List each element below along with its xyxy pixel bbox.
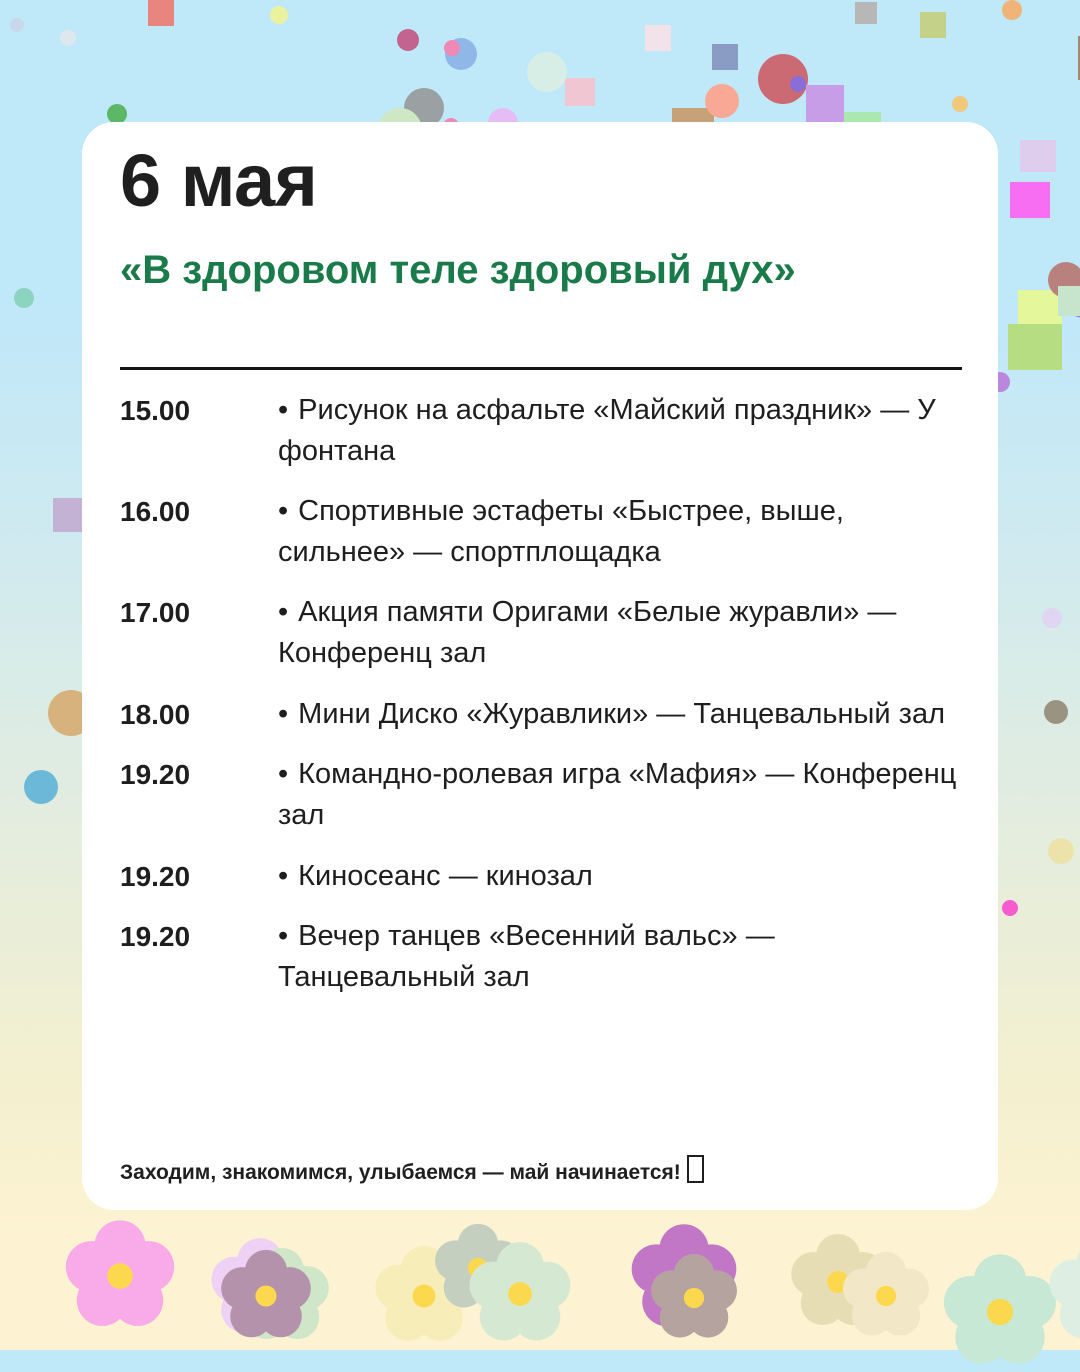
poster-subtitle: «В здоровом теле здоровый дух» (120, 248, 964, 293)
flower-icon (218, 1248, 314, 1344)
confetti-circle (10, 18, 24, 32)
confetti-square (920, 12, 946, 38)
confetti-square (1010, 182, 1050, 218)
missing-glyph-tofu-icon (687, 1155, 704, 1183)
confetti-square (645, 25, 671, 51)
schedule-description-text: Спортивные эстафеты «Быстрее, выше, силь… (278, 495, 844, 568)
schedule-row: 16.00•Спортивные эстафеты «Быстрее, выше… (120, 491, 968, 572)
confetti-circle (444, 40, 460, 56)
schedule-time: 16.00 (120, 491, 278, 532)
schedule-row: 19.20•Вечер танцев «Весенний вальс» — Та… (120, 916, 968, 997)
schedule-time: 17.00 (120, 592, 278, 633)
bullet-icon: • (278, 596, 288, 628)
bullet-icon: • (278, 394, 288, 426)
flower-icon (940, 1252, 1060, 1372)
confetti-square (806, 85, 844, 123)
confetti-circle (1044, 700, 1068, 724)
schedule-row: 19.20•Киносеанс — кинозал (120, 856, 968, 897)
schedule-time: 19.20 (120, 754, 278, 795)
schedule-description: •Вечер танцев «Весенний вальс» — Танцева… (278, 916, 968, 997)
schedule-description: •Командно-ролевая игра «Мафия» — Конфере… (278, 754, 968, 835)
confetti-square (1058, 286, 1080, 316)
flower-icon (840, 1250, 932, 1342)
schedule-description-text: Киносеанс — кинозал (298, 860, 593, 892)
schedule-description-text: Акция памяти Оригами «Белые журавли» — К… (278, 596, 896, 669)
confetti-circle (445, 38, 477, 70)
schedule-time: 15.00 (120, 390, 278, 431)
confetti-square (565, 78, 595, 106)
confetti-circle (1002, 900, 1018, 916)
schedule-description-text: Рисунок на асфальте «Майский праздник» —… (278, 394, 936, 467)
confetti-circle (107, 104, 127, 124)
confetti-circle (758, 54, 808, 104)
confetti-square (712, 44, 738, 70)
schedule-row: 15.00•Рисунок на асфальте «Майский празд… (120, 390, 968, 471)
confetti-square (1020, 140, 1056, 172)
confetti-circle (270, 6, 288, 24)
confetti-circle (60, 30, 76, 46)
flower-icon (372, 1244, 476, 1348)
confetti-circle (705, 84, 739, 118)
event-card: 6 мая «В здоровом теле здоровый дух» 15.… (82, 122, 998, 1210)
schedule-description: •Спортивные эстафеты «Быстрее, выше, сил… (278, 491, 968, 572)
confetti-circle (14, 288, 34, 308)
flower-icon (466, 1240, 574, 1348)
flower-icon (1046, 1238, 1080, 1346)
confetti-square (148, 0, 174, 26)
schedule-row: 19.20•Командно-ролевая игра «Мафия» — Ко… (120, 754, 968, 835)
page-title: 6 мая (120, 144, 317, 218)
schedule-description-text: Мини Диско «Журавлики» — Танцевальный за… (298, 698, 945, 730)
confetti-circle (1048, 838, 1074, 864)
confetti-circle (1042, 608, 1062, 628)
flower-icon (648, 1252, 740, 1344)
schedule-description: •Киносеанс — кинозал (278, 856, 968, 897)
title-divider (120, 367, 962, 370)
confetti-circle (952, 96, 968, 112)
confetti-circle (397, 29, 419, 51)
confetti-square (1008, 324, 1062, 370)
schedule-description: •Рисунок на асфальте «Майский праздник» … (278, 390, 968, 471)
footer-text: Заходим, знакомимся, улыбаемся — май нач… (120, 1161, 681, 1184)
confetti-square (855, 2, 877, 24)
schedule-row: 18.00•Мини Диско «Журавлики» — Танцеваль… (120, 694, 968, 735)
confetti-square (1018, 290, 1062, 334)
confetti-circle (1002, 0, 1022, 20)
schedule-time: 19.20 (120, 856, 278, 897)
flower-icon (628, 1222, 740, 1334)
confetti-circle (24, 770, 58, 804)
flower-icon (62, 1218, 178, 1334)
flower-icon (208, 1236, 312, 1340)
schedule-list: 15.00•Рисунок на асфальте «Майский празд… (120, 390, 968, 1017)
bullet-icon: • (278, 860, 288, 892)
schedule-time: 18.00 (120, 694, 278, 735)
confetti-circle (790, 76, 806, 92)
flower-icon (232, 1246, 332, 1346)
footer-note: Заходим, знакомимся, улыбаемся — май нач… (120, 1155, 970, 1186)
flower-icon (432, 1222, 524, 1314)
bullet-icon: • (278, 920, 288, 952)
confetti-circle (527, 52, 567, 92)
confetti-circle (1060, 268, 1080, 318)
bullet-icon: • (278, 758, 288, 790)
bullet-icon: • (278, 495, 288, 527)
schedule-description-text: Командно-ролевая игра «Мафия» — Конферен… (278, 758, 956, 831)
schedule-time: 19.20 (120, 916, 278, 957)
schedule-row: 17.00•Акция памяти Оригами «Белые журавл… (120, 592, 968, 673)
schedule-description: •Акция памяти Оригами «Белые журавли» — … (278, 592, 968, 673)
schedule-description: •Мини Диско «Журавлики» — Танцевальный з… (278, 694, 968, 735)
flower-icon (788, 1232, 888, 1332)
bullet-icon: • (278, 698, 288, 730)
schedule-description-text: Вечер танцев «Весенний вальс» — Танцевал… (278, 920, 775, 993)
confetti-circle (1048, 262, 1080, 298)
